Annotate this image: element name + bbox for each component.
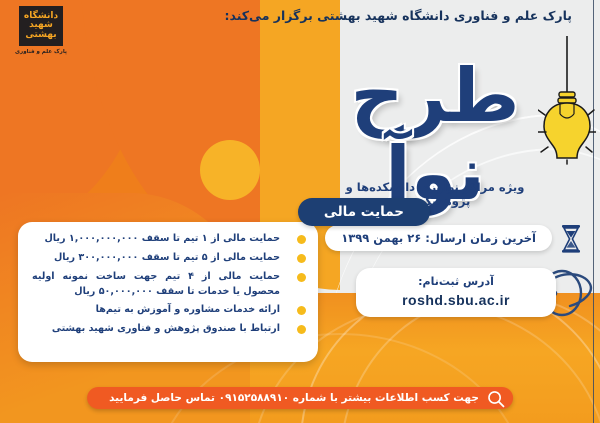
university-logo: دانشگاه شهید بهشتی پارک علم و فناوری xyxy=(10,6,72,55)
list-item-text: ارتباط با صندوق پژوهش و فناوری شهید بهشت… xyxy=(52,323,280,334)
search-icon xyxy=(487,390,505,411)
support-items-list: حمایت مالی از ۱ تیم تا سقف ۱,۰۰۰,۰۰۰,۰۰۰… xyxy=(32,232,284,337)
financial-support-card: حمایت مالی از ۱ تیم تا سقف ۱,۰۰۰,۰۰۰,۰۰۰… xyxy=(18,222,318,362)
poster-canvas: دانشگاه شهید بهشتی پارک علم و فناوری پار… xyxy=(0,0,600,423)
list-item: ارائه خدمات مشاوره و آموزش به تیم‌ها xyxy=(32,303,284,318)
list-item-text: حمایت مالی از ۵ تیم تا سقف ۳۰۰,۰۰۰,۰۰۰ ر… xyxy=(54,252,280,263)
bullet-dot-icon xyxy=(297,235,306,244)
list-item-text: حمایت مالی از ۴ تیم جهت ساخت نمونه اولیه… xyxy=(32,271,280,297)
bullet-dot-icon xyxy=(297,306,306,315)
list-item-text: ارائه خدمات مشاوره و آموزش به تیم‌ها xyxy=(96,304,280,315)
bullet-dot-icon xyxy=(297,254,306,263)
hourglass-icon xyxy=(558,224,584,258)
list-item: ارتباط با صندوق پژوهش و فناوری شهید بهشت… xyxy=(32,322,284,337)
logo-caption: پارک علم و فناوری xyxy=(10,49,72,55)
contact-call-text: جهت کسب اطلاعات بیشتر با شماره ۰۹۱۵۲۵۸۸۹… xyxy=(109,392,479,404)
list-item-text: حمایت مالی از ۱ تیم تا سقف ۱,۰۰۰,۰۰۰,۰۰۰… xyxy=(44,233,280,244)
list-item: حمایت مالی از ۱ تیم تا سقف ۱,۰۰۰,۰۰۰,۰۰۰… xyxy=(32,232,284,247)
submission-deadline: آخرین زمان ارسال: ۲۶ بهمن ۱۳۹۹ xyxy=(325,225,552,251)
financial-support-badge: حمایت مالی xyxy=(298,198,430,226)
list-item: حمایت مالی از ۴ تیم جهت ساخت نمونه اولیه… xyxy=(32,270,284,300)
signup-label: آدرس ثبت‌نام: xyxy=(368,275,544,288)
list-item: حمایت مالی از ۵ تیم تا سقف ۳۰۰,۰۰۰,۰۰۰ ر… xyxy=(32,251,284,266)
signup-url[interactable]: roshd.sbu.ac.ir xyxy=(368,292,544,308)
bullet-dot-icon xyxy=(297,325,306,334)
signup-address-box: آدرس ثبت‌نام: roshd.sbu.ac.ir xyxy=(356,268,556,317)
logo-emblem: دانشگاه شهید بهشتی xyxy=(19,6,63,46)
contact-call-bar: جهت کسب اطلاعات بیشتر با شماره ۰۹۱۵۲۵۸۸۹… xyxy=(87,387,513,409)
yellow-dot-shape xyxy=(200,140,260,200)
bullet-dot-icon xyxy=(297,273,306,282)
organizer-heading: پارک علم و فناوری دانشگاه شهید بهشتی برگ… xyxy=(224,8,572,23)
